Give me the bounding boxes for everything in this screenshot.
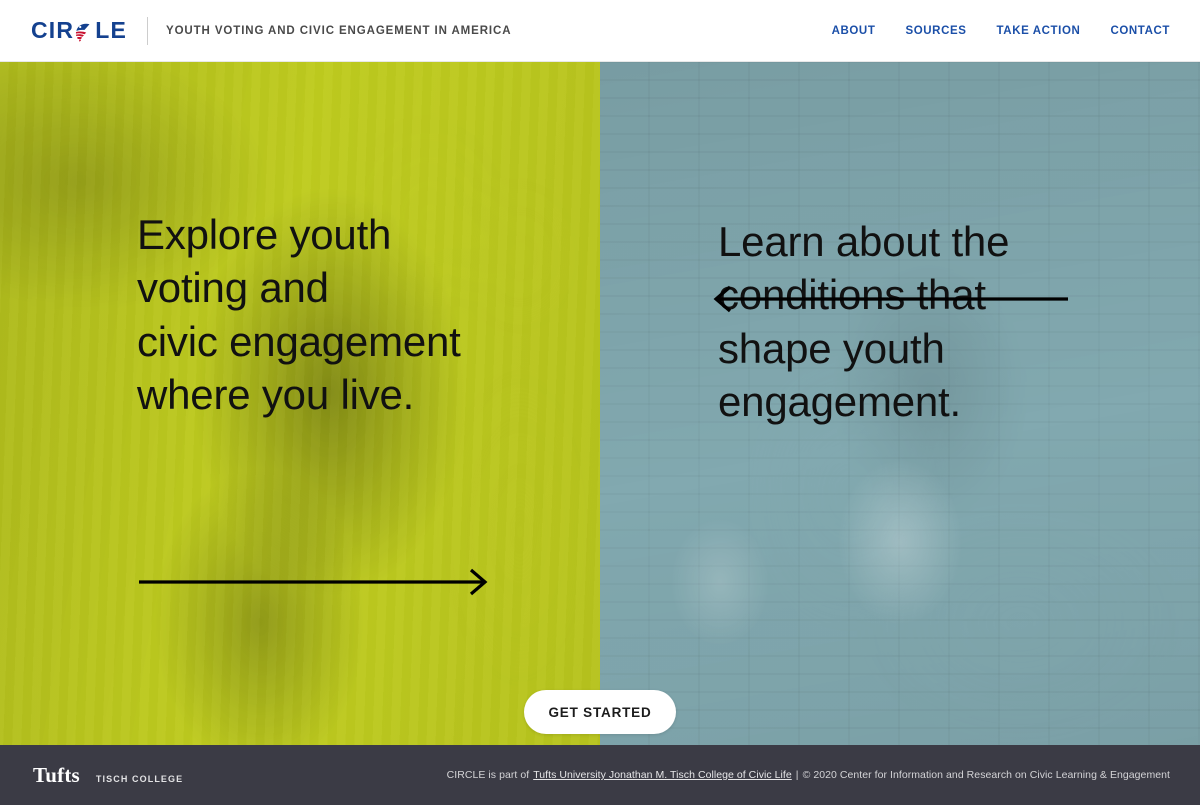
brand-block[interactable]: CIR LE Youth Voting and Civic Engagement… [0,17,511,45]
hero-panel-left[interactable]: Explore youth voting and civic engagemen… [0,62,600,745]
footer-tisch-link[interactable]: Tufts University Jonathan M. Tisch Colle… [533,769,792,781]
hero-section: Explore youth voting and civic engagemen… [0,62,1200,745]
tufts-logo: Tufts [33,763,80,788]
hero-right-content: Learn about the conditions that shape yo… [718,215,1148,428]
nav-item-about[interactable]: About [832,25,876,37]
hero-panel-right[interactable]: Learn about the conditions that shape yo… [600,62,1200,745]
footer-branding[interactable]: Tufts Tisch College [0,763,183,788]
tisch-college-label: Tisch College [96,774,183,784]
circle-flag-icon [75,23,94,43]
hero-right-headline: Learn about the conditions that shape yo… [718,215,1148,428]
hero-left-arrow-right-icon[interactable] [137,567,489,602]
logo-text-after: LE [95,19,127,42]
site-header: CIR LE Youth Voting and Civic Engagement… [0,0,1200,62]
nav-item-take-action[interactable]: Take Action [997,25,1081,37]
footer-credit-separator: | [796,769,799,781]
site-footer: Tufts Tisch College CIRCLE is part of Tu… [0,745,1200,805]
hero-left-content: Explore youth voting and civic engagemen… [137,208,557,421]
footer-credit-prefix: CIRCLE is part of [447,769,530,781]
hero-right-arrow-left-icon[interactable] [712,284,1070,319]
circle-logo[interactable]: CIR LE [31,18,127,44]
hero-left-headline: Explore youth voting and civic engagemen… [137,208,557,421]
logo-text-before: CIR [31,19,74,42]
nav-item-contact[interactable]: Contact [1110,25,1170,37]
site-tagline: Youth Voting and Civic Engagement in Ame… [166,25,511,37]
main-navigation: About Sources Take Action Contact [832,25,1200,37]
footer-credit: CIRCLE is part of Tufts University Jonat… [447,769,1200,781]
page-root: CIR LE Youth Voting and Civic Engagement… [0,0,1200,805]
get-started-button[interactable]: GET STARTED [524,690,676,734]
brand-divider [147,17,148,45]
footer-credit-suffix: © 2020 Center for Information and Resear… [803,769,1170,781]
nav-item-sources[interactable]: Sources [905,25,966,37]
